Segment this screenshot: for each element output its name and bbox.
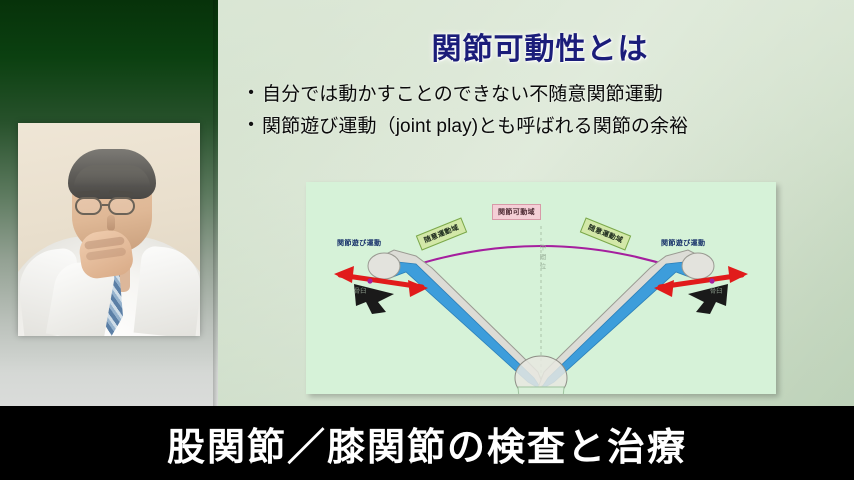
caption-text: 股関節／膝関節の検査と治療 [167,416,687,471]
label-neutral-position: 中間位 [536,244,546,273]
bullet-marker-icon: • [240,82,262,105]
joint-mobility-diagram: 関節可動域 随意運動域 随意運動域 関節遊び運動 関節遊び運動 骨臼 骨臼 中間… [306,182,776,394]
bullet-text: 自分では動かすことのできない不随意関節運動 [262,82,848,109]
list-item: • 自分では動かすことのできない不随意関節運動 [240,82,848,109]
presenter-nose [107,215,115,231]
diagram-canvas: 関節可動域 随意運動域 随意運動域 関節遊び運動 関節遊び運動 骨臼 骨臼 中間… [306,182,776,394]
label-joint-play-left: 関節遊び運動 [337,238,381,248]
slide-stage: 関節可動性とは • 自分では動かすことのできない不随意関節運動 • 関節遊び運動… [0,0,854,480]
label-acetabulum-left: 骨臼 [354,286,367,295]
glasses-lens-right-icon [108,197,135,215]
bullet-marker-icon: • [240,114,262,137]
glasses-bridge-icon [102,204,110,206]
label-range-of-motion: 関節可動域 [492,204,541,220]
list-item: • 関節遊び運動（joint play)とも呼ばれる関節の余裕 [240,114,848,141]
bullet-list: • 自分では動かすことのできない不随意関節運動 • 関節遊び運動（joint p… [240,82,848,146]
presenter-video[interactable] [18,123,200,336]
page-title: 関節可動性とは [232,24,848,68]
diagram-illustration [306,182,776,394]
presenter-panel [0,0,218,406]
bullet-text: 関節遊び運動（joint play)とも呼ばれる関節の余裕 [262,114,848,141]
label-joint-play-right: 関節遊び運動 [661,238,705,248]
caption-bar: 股関節／膝関節の検査と治療 [0,406,854,480]
glasses-lens-left-icon [75,197,102,215]
label-acetabulum-right: 骨臼 [710,286,723,295]
